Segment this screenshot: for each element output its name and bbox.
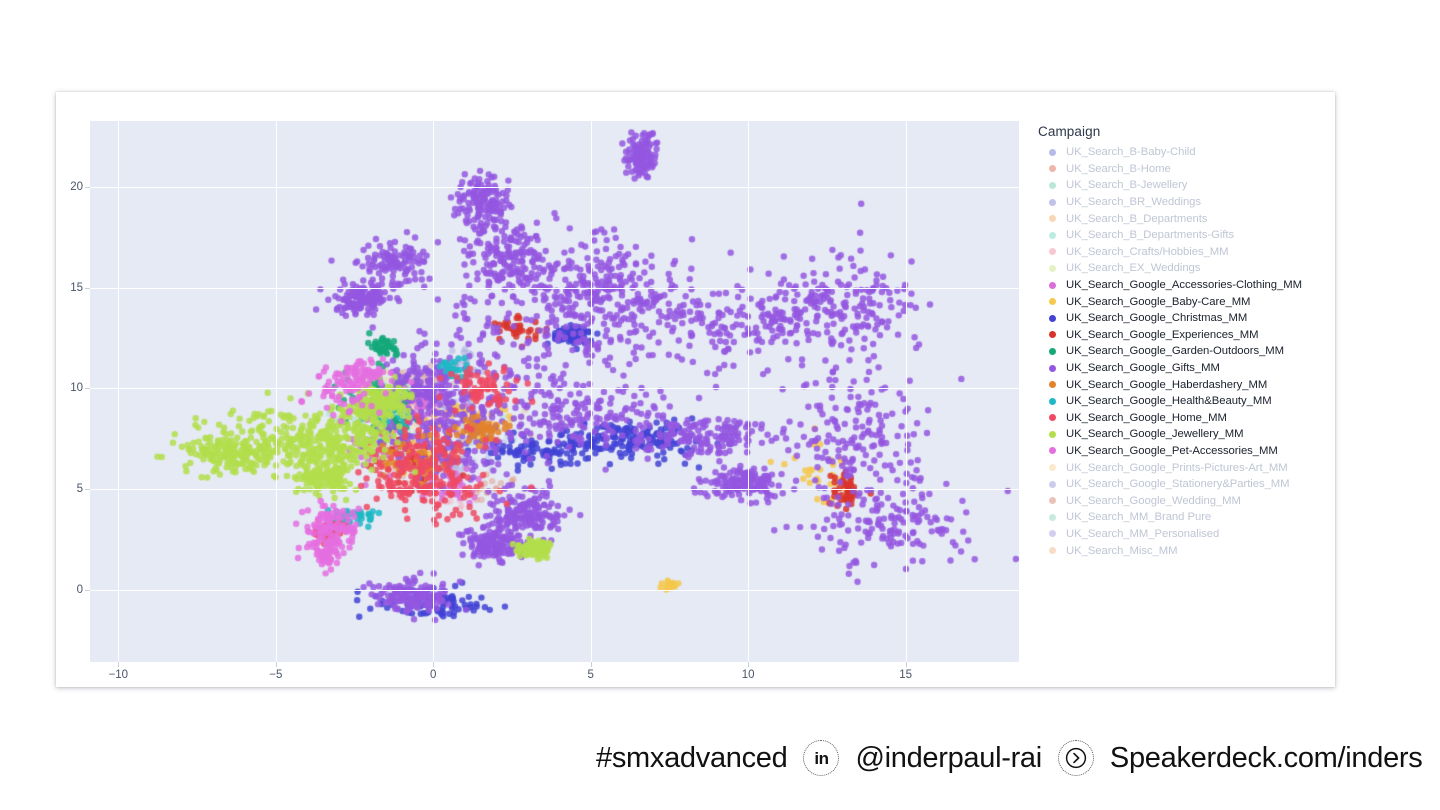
legend-swatch-icon [1049,232,1056,239]
linkedin-icon-glyph: in [814,750,828,767]
x-tick-mark [748,662,749,667]
legend-item-label: UK_Search_Google_Christmas_MM [1066,312,1247,324]
gridline-horizontal [90,388,1019,389]
footer-content-row: #smxadvanced in @inderpaul-rai Speakerde… [596,734,1422,782]
legend-item-label: UK_Search_Google_Gifts_MM [1066,362,1220,374]
legend-swatch-icon [1049,497,1056,504]
y-tick-mark [85,187,90,188]
legend-item[interactable]: UK_Search_BR_Weddings [1038,194,1328,211]
legend-item-label: UK_Search_Google_Jewellery_MM [1066,428,1244,440]
legend-item[interactable]: UK_Search_Google_Gifts_MM [1038,360,1328,377]
legend-item[interactable]: UK_Search_EX_Weddings [1038,260,1328,277]
legend-item[interactable]: UK_Search_B-Home [1038,161,1328,178]
legend-swatch-icon [1049,464,1056,471]
slide-footer: #smxadvanced in @inderpaul-rai Speakerde… [0,718,1440,810]
legend-item-label: UK_Search_EX_Weddings [1066,262,1200,274]
y-tick-label: 5 [77,483,83,495]
legend-item[interactable]: UK_Search_Google_Experiences_MM [1038,327,1328,344]
conference-hashtag: #smxadvanced [596,742,787,775]
slide-root: −10−505101505101520 Campaign UK_Search_B… [0,0,1440,810]
legend-item[interactable]: UK_Search_Misc_MM [1038,542,1328,559]
x-tick-label: 15 [899,669,912,681]
y-tick-mark [85,288,90,289]
x-tick-label: 10 [742,669,755,681]
legend-swatch-icon [1049,282,1056,289]
legend-title: Campaign [1038,124,1328,139]
gridline-horizontal [90,489,1019,490]
legend-item-label: UK_Search_BR_Weddings [1066,196,1201,208]
legend-item-label: UK_Search_Google_Home_MM [1066,412,1227,424]
legend-item[interactable]: UK_Search_MM_Brand Pure [1038,509,1328,526]
legend-item-label: UK_Search_Google_Accessories-Clothing_MM [1066,279,1302,291]
legend-item-label: UK_Search_Google_Haberdashery_MM [1066,379,1267,391]
legend-item[interactable]: UK_Search_Google_Garden-Outdoors_MM [1038,343,1328,360]
legend-item-label: UK_Search_Google_Experiences_MM [1066,329,1258,341]
legend-swatch-icon [1049,149,1056,156]
legend-swatch-icon [1049,248,1056,255]
legend-item[interactable]: UK_Search_B-Baby-Child [1038,144,1328,161]
x-tick-mark [906,662,907,667]
legend-item-label: UK_Search_MM_Brand Pure [1066,511,1211,523]
plot-wrapper: −10−505101505101520 [90,121,1019,662]
legend-swatch-icon [1049,530,1056,537]
legend-item-label: UK_Search_B_Departments [1066,213,1207,225]
linkedin-handle: @inderpaul-rai [855,742,1041,775]
x-tick-mark [276,662,277,667]
legend-item[interactable]: UK_Search_Google_Christmas_MM [1038,310,1328,327]
legend-item[interactable]: UK_Search_MM_Personalised [1038,526,1328,543]
gridline-vertical [591,121,592,662]
legend-item-label: UK_Search_Google_Pet-Accessories_MM [1066,445,1278,457]
legend-swatch-icon [1049,514,1056,521]
legend-swatch-icon [1049,182,1056,189]
legend-swatch-icon [1049,365,1056,372]
legend-swatch-icon [1049,331,1056,338]
legend-item-label: UK_Search_B-Home [1066,163,1171,175]
x-tick-mark [433,662,434,667]
legend-swatch-icon [1049,414,1056,421]
legend-item[interactable]: UK_Search_Google_Health&Beauty_MM [1038,393,1328,410]
gridline-horizontal [90,187,1019,188]
legend-swatch-icon [1049,381,1056,388]
x-tick-mark [118,662,119,667]
y-tick-label: 20 [70,181,83,193]
x-tick-label: −5 [269,669,282,681]
legend-swatch-icon [1049,165,1056,172]
legend-item[interactable]: UK_Search_B_Departments-Gifts [1038,227,1328,244]
x-tick-label: 0 [430,669,436,681]
legend-item-list: UK_Search_B-Baby-ChildUK_Search_B-HomeUK… [1038,144,1328,559]
legend-item-label: UK_Search_Google_Prints-Pictures-Art_MM [1066,462,1288,474]
legend-item[interactable]: UK_Search_Google_Haberdashery_MM [1038,376,1328,393]
legend-item-label: UK_Search_Google_Stationery&Parties_MM [1066,478,1290,490]
legend-swatch-icon [1049,547,1056,554]
legend-swatch-icon [1049,315,1056,322]
gridline-vertical [748,121,749,662]
chart-legend: Campaign UK_Search_B-Baby-ChildUK_Search… [1038,124,1328,559]
legend-item-label: UK_Search_MM_Personalised [1066,528,1219,540]
y-tick-label: 15 [70,282,83,294]
y-tick-mark [85,590,90,591]
legend-item[interactable]: UK_Search_Google_Wedding_MM [1038,492,1328,509]
legend-item[interactable]: UK_Search_Google_Baby-Care_MM [1038,293,1328,310]
gridline-vertical [433,121,434,662]
speakerdeck-url: Speakerdeck.com/inders [1110,742,1423,775]
legend-item-label: UK_Search_B_Departments-Gifts [1066,229,1234,241]
y-tick-label: 10 [70,382,83,394]
legend-swatch-icon [1049,348,1056,355]
chevron-right-circle-icon [1065,747,1087,769]
legend-swatch-icon [1049,398,1056,405]
legend-item[interactable]: UK_Search_Google_Stationery&Parties_MM [1038,476,1328,493]
y-tick-label: 0 [77,584,83,596]
legend-item[interactable]: UK_Search_Google_Prints-Pictures-Art_MM [1038,459,1328,476]
scatter-canvas[interactable] [90,121,1019,662]
x-tick-label: 5 [588,669,594,681]
legend-item[interactable]: UK_Search_Google_Jewellery_MM [1038,426,1328,443]
legend-item[interactable]: UK_Search_Google_Pet-Accessories_MM [1038,443,1328,460]
legend-item[interactable]: UK_Search_B_Departments [1038,210,1328,227]
legend-item[interactable]: UK_Search_Crafts/Hobbies_MM [1038,244,1328,261]
legend-swatch-icon [1049,298,1056,305]
x-tick-mark [591,662,592,667]
legend-item[interactable]: UK_Search_Google_Home_MM [1038,410,1328,427]
gridline-vertical [118,121,119,662]
legend-item-label: UK_Search_Misc_MM [1066,545,1178,557]
gridline-horizontal [90,590,1019,591]
legend-swatch-icon [1049,481,1056,488]
legend-item-label: UK_Search_Google_Wedding_MM [1066,495,1241,507]
legend-swatch-icon [1049,215,1056,222]
legend-swatch-icon [1049,265,1056,272]
linkedin-icon[interactable]: in [803,740,839,776]
legend-item-label: UK_Search_Google_Baby-Care_MM [1066,296,1250,308]
legend-item-label: UK_Search_Google_Health&Beauty_MM [1066,395,1272,407]
legend-item[interactable]: UK_Search_Google_Accessories-Clothing_MM [1038,277,1328,294]
y-tick-mark [85,489,90,490]
plot-area[interactable] [90,121,1019,662]
y-tick-mark [85,388,90,389]
gridline-vertical [276,121,277,662]
legend-item[interactable]: UK_Search_B-Jewellery [1038,177,1328,194]
gridline-horizontal [90,288,1019,289]
legend-item-label: UK_Search_B-Jewellery [1066,179,1187,191]
legend-item-label: UK_Search_Google_Garden-Outdoors_MM [1066,345,1284,357]
x-tick-label: −10 [109,669,129,681]
chart-card: −10−505101505101520 Campaign UK_Search_B… [56,92,1335,687]
legend-swatch-icon [1049,447,1056,454]
speakerdeck-icon[interactable] [1058,740,1094,776]
legend-swatch-icon [1049,431,1056,438]
legend-swatch-icon [1049,199,1056,206]
legend-item-label: UK_Search_Crafts/Hobbies_MM [1066,246,1229,258]
legend-item-label: UK_Search_B-Baby-Child [1066,146,1196,158]
gridline-vertical [906,121,907,662]
